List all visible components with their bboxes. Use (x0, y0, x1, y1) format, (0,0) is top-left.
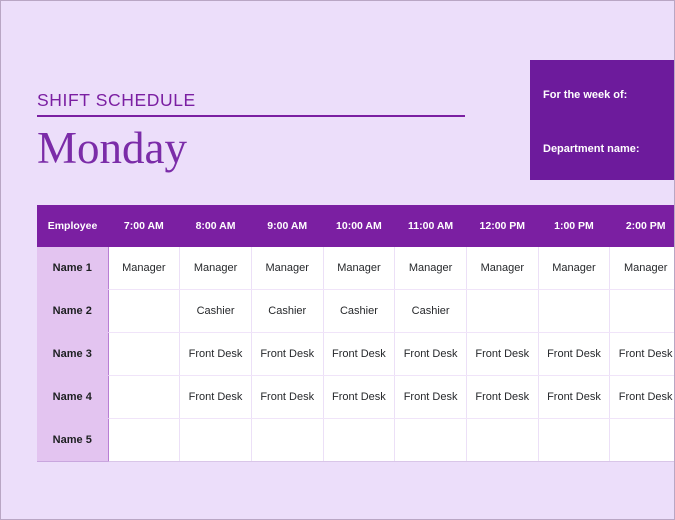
shift-cell[interactable] (108, 290, 180, 333)
shift-schedule-page: SHIFT SCHEDULE Monday For the week of: D… (1, 1, 674, 519)
shift-cell[interactable] (108, 376, 180, 419)
employee-name-cell[interactable]: Name 3 (37, 333, 108, 376)
shift-cell[interactable]: Front Desk (251, 376, 323, 419)
table-row: Name 5 (37, 419, 674, 462)
shift-cell[interactable]: Manager (610, 247, 674, 290)
schedule-table-body: Name 1ManagerManagerManagerManagerManage… (37, 247, 674, 462)
shift-cell[interactable]: Front Desk (323, 333, 395, 376)
shift-cell[interactable]: Front Desk (395, 333, 467, 376)
shift-cell[interactable]: Front Desk (466, 333, 538, 376)
column-header-1400: 2:00 PM (610, 205, 674, 247)
shift-cell[interactable] (108, 333, 180, 376)
employee-name-cell[interactable]: Name 5 (37, 419, 108, 462)
column-header-0800: 8:00 AM (180, 205, 252, 247)
shift-cell[interactable]: Front Desk (610, 333, 674, 376)
shift-cell[interactable]: Manager (466, 247, 538, 290)
table-row: Name 2CashierCashierCashierCashier (37, 290, 674, 333)
shift-cell[interactable] (538, 419, 610, 462)
shift-cell[interactable]: Front Desk (180, 333, 252, 376)
shift-cell[interactable] (180, 419, 252, 462)
shift-cell[interactable]: Cashier (395, 290, 467, 333)
shift-cell[interactable]: Front Desk (538, 376, 610, 419)
week-of-label: For the week of: (543, 88, 674, 102)
info-box: For the week of: Department name: (530, 60, 674, 180)
title-divider (37, 115, 465, 117)
shift-cell[interactable] (108, 419, 180, 462)
table-row: Name 1ManagerManagerManagerManagerManage… (37, 247, 674, 290)
shift-cell[interactable]: Cashier (323, 290, 395, 333)
shift-cell[interactable]: Front Desk (466, 376, 538, 419)
shift-cell[interactable] (610, 419, 674, 462)
title-block: SHIFT SCHEDULE Monday (37, 89, 465, 175)
shift-cell[interactable] (466, 290, 538, 333)
column-header-0900: 9:00 AM (251, 205, 323, 247)
shift-schedule-table: Employee 7:00 AM 8:00 AM 9:00 AM 10:00 A… (37, 205, 674, 462)
shift-cell[interactable]: Front Desk (395, 376, 467, 419)
column-header-1000: 10:00 AM (323, 205, 395, 247)
page-title-day: Monday (37, 121, 465, 175)
shift-cell[interactable]: Manager (323, 247, 395, 290)
shift-cell[interactable] (323, 419, 395, 462)
table-row: Name 4Front DeskFront DeskFront DeskFron… (37, 376, 674, 419)
eyebrow-heading: SHIFT SCHEDULE (37, 89, 465, 111)
shift-cell[interactable]: Front Desk (180, 376, 252, 419)
shift-cell[interactable]: Front Desk (538, 333, 610, 376)
employee-name-cell[interactable]: Name 2 (37, 290, 108, 333)
shift-cell[interactable]: Manager (395, 247, 467, 290)
column-header-employee: Employee (37, 205, 108, 247)
shift-cell[interactable]: Manager (180, 247, 252, 290)
shift-cell[interactable]: Front Desk (251, 333, 323, 376)
shift-cell[interactable]: Cashier (180, 290, 252, 333)
schedule-table-head: Employee 7:00 AM 8:00 AM 9:00 AM 10:00 A… (37, 205, 674, 247)
shift-cell[interactable]: Front Desk (323, 376, 395, 419)
shift-cell[interactable] (251, 419, 323, 462)
column-header-1300: 1:00 PM (538, 205, 610, 247)
shift-cell[interactable] (538, 290, 610, 333)
table-row: Name 3Front DeskFront DeskFront DeskFron… (37, 333, 674, 376)
department-name-label: Department name: (543, 142, 674, 156)
schedule-header-row: Employee 7:00 AM 8:00 AM 9:00 AM 10:00 A… (37, 205, 674, 247)
shift-cell[interactable]: Manager (108, 247, 180, 290)
shift-cell[interactable]: Manager (538, 247, 610, 290)
schedule-table-wrapper: Employee 7:00 AM 8:00 AM 9:00 AM 10:00 A… (37, 205, 674, 462)
employee-name-cell[interactable]: Name 4 (37, 376, 108, 419)
shift-cell[interactable]: Cashier (251, 290, 323, 333)
column-header-1100: 11:00 AM (395, 205, 467, 247)
shift-cell[interactable] (610, 290, 674, 333)
employee-name-cell[interactable]: Name 1 (37, 247, 108, 290)
shift-cell[interactable] (466, 419, 538, 462)
column-header-0700: 7:00 AM (108, 205, 180, 247)
column-header-1200: 12:00 PM (466, 205, 538, 247)
shift-cell[interactable] (395, 419, 467, 462)
shift-cell[interactable]: Front Desk (610, 376, 674, 419)
shift-cell[interactable]: Manager (251, 247, 323, 290)
